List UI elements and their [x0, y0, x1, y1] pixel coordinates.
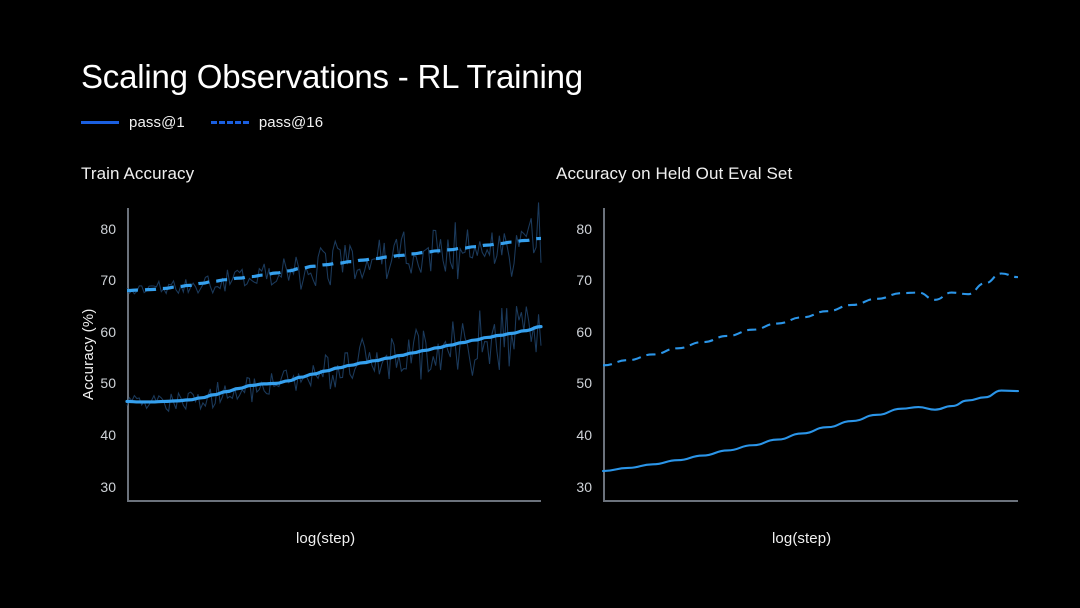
- plot-area-right[interactable]: 304050607080: [603, 208, 1018, 502]
- legend-item-pass1[interactable]: pass@1: [81, 114, 185, 131]
- legend-line-solid-icon: [81, 121, 119, 124]
- y-axis-label-left: Accuracy (%): [80, 308, 97, 400]
- y-tick-label: 80: [100, 222, 116, 236]
- y-tick-label: 60: [100, 325, 116, 339]
- y-tick-label: 50: [100, 376, 116, 390]
- slide-canvas: Scaling Observations - RL Training pass@…: [0, 0, 1080, 608]
- y-tick-label: 50: [576, 376, 592, 390]
- legend-item-pass16[interactable]: pass@16: [211, 114, 323, 131]
- y-tick-label: 40: [100, 428, 116, 442]
- y-tick-label: 30: [100, 480, 116, 494]
- x-axis-label-left: log(step): [296, 530, 355, 547]
- y-tick-label: 70: [576, 273, 592, 287]
- y-tick-label: 80: [576, 222, 592, 236]
- legend-label-pass16: pass@16: [259, 114, 323, 131]
- page-title: Scaling Observations - RL Training: [81, 58, 583, 96]
- y-tick-label: 30: [576, 480, 592, 494]
- series-paths-right: [603, 208, 1018, 502]
- raw-noise-path-pass@1: [127, 306, 541, 411]
- raw-noise-path-pass@16: [127, 202, 541, 293]
- chart-legend: pass@1 pass@16: [81, 111, 323, 133]
- y-tick-label: 60: [576, 325, 592, 339]
- y-tick-label: 40: [576, 428, 592, 442]
- legend-line-dashed-icon: [211, 121, 249, 124]
- legend-label-pass1: pass@1: [129, 114, 185, 131]
- series-path-pass@16: [603, 274, 1018, 366]
- chart-title-left: Train Accuracy: [81, 164, 194, 184]
- x-axis-label-right: log(step): [772, 530, 831, 547]
- y-tick-label: 70: [100, 273, 116, 287]
- series-path-pass@1: [603, 391, 1018, 471]
- series-path-pass@1: [127, 327, 541, 402]
- plot-area-left[interactable]: 304050607080: [127, 208, 541, 502]
- series-paths-left: [127, 208, 541, 502]
- chart-title-right: Accuracy on Held Out Eval Set: [556, 164, 792, 184]
